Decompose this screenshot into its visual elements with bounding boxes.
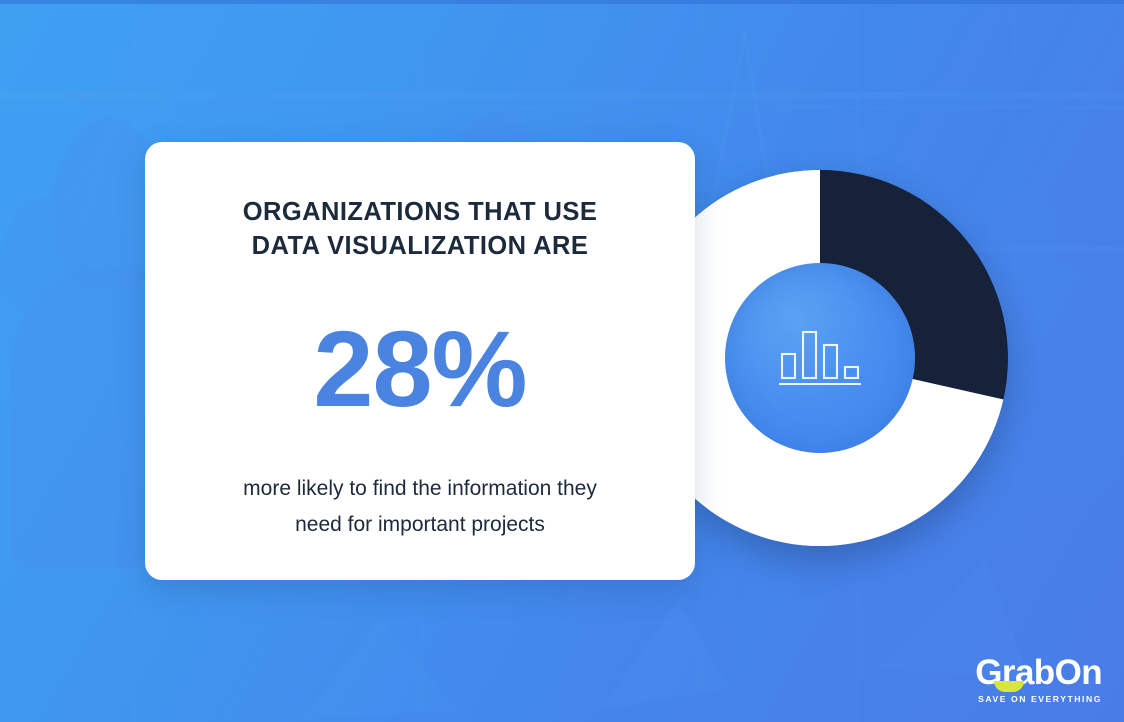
stat-value: 28% [313, 315, 526, 423]
stat-card: ORGANIZATIONS THAT USE DATA VISUALIZATIO… [145, 142, 695, 580]
brand-logo[interactable]: GrabOn SAVE ON EVERYTHING [950, 655, 1102, 704]
bar-chart-icon [777, 327, 863, 389]
donut-center-hub [725, 263, 915, 453]
logo-mark: GrabOn [975, 655, 1102, 690]
infographic-canvas: ORGANIZATIONS THAT USE DATA VISUALIZATIO… [0, 0, 1124, 722]
stat-description: more likely to find the information they… [220, 471, 620, 542]
logo-tagline: SAVE ON EVERYTHING [950, 695, 1102, 704]
background-top-edge [0, 0, 1124, 4]
page-title: ORGANIZATIONS THAT USE DATA VISUALIZATIO… [205, 196, 635, 263]
